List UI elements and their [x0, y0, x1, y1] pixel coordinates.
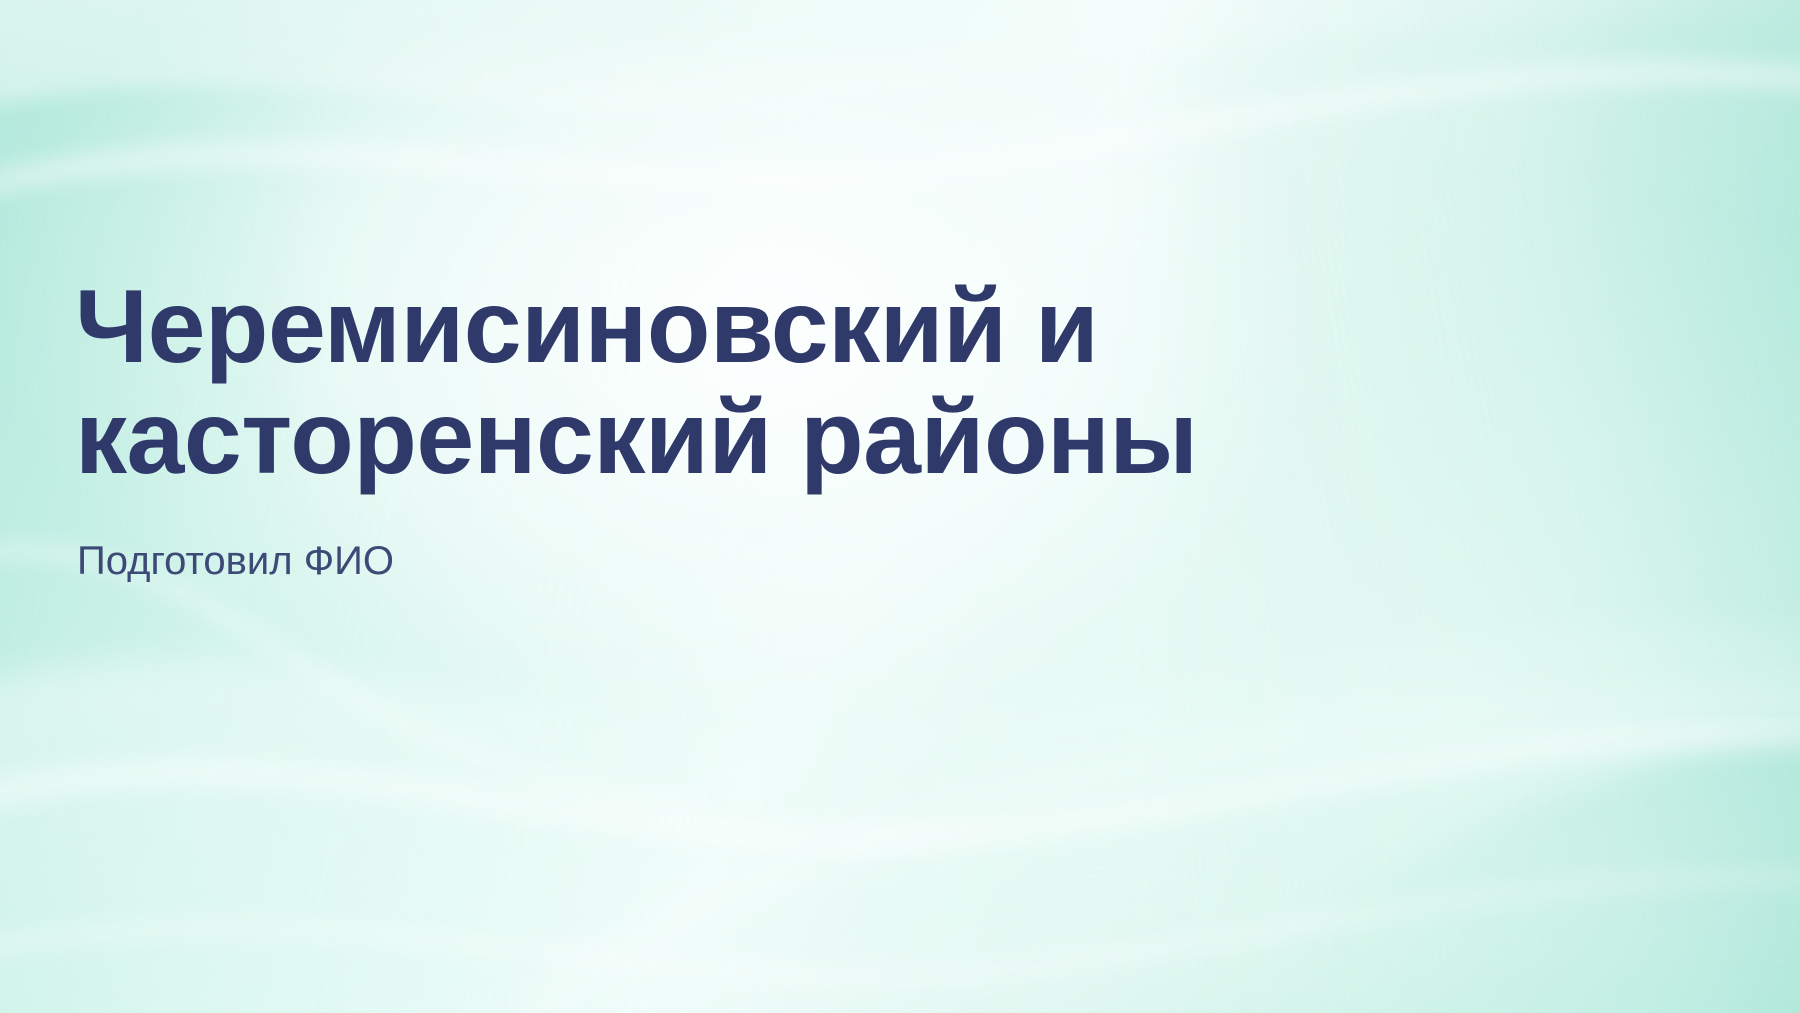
slide-content: Черемисиновский и касторенский районы По… [75, 0, 1375, 1013]
slide-subtitle: Подготовил ФИО [77, 537, 394, 585]
wave-edge-left [0, 0, 29, 700]
slide-title: Черемисиновский и касторенский районы [75, 272, 1335, 495]
presentation-slide: Черемисиновский и касторенский районы По… [0, 0, 1800, 1013]
